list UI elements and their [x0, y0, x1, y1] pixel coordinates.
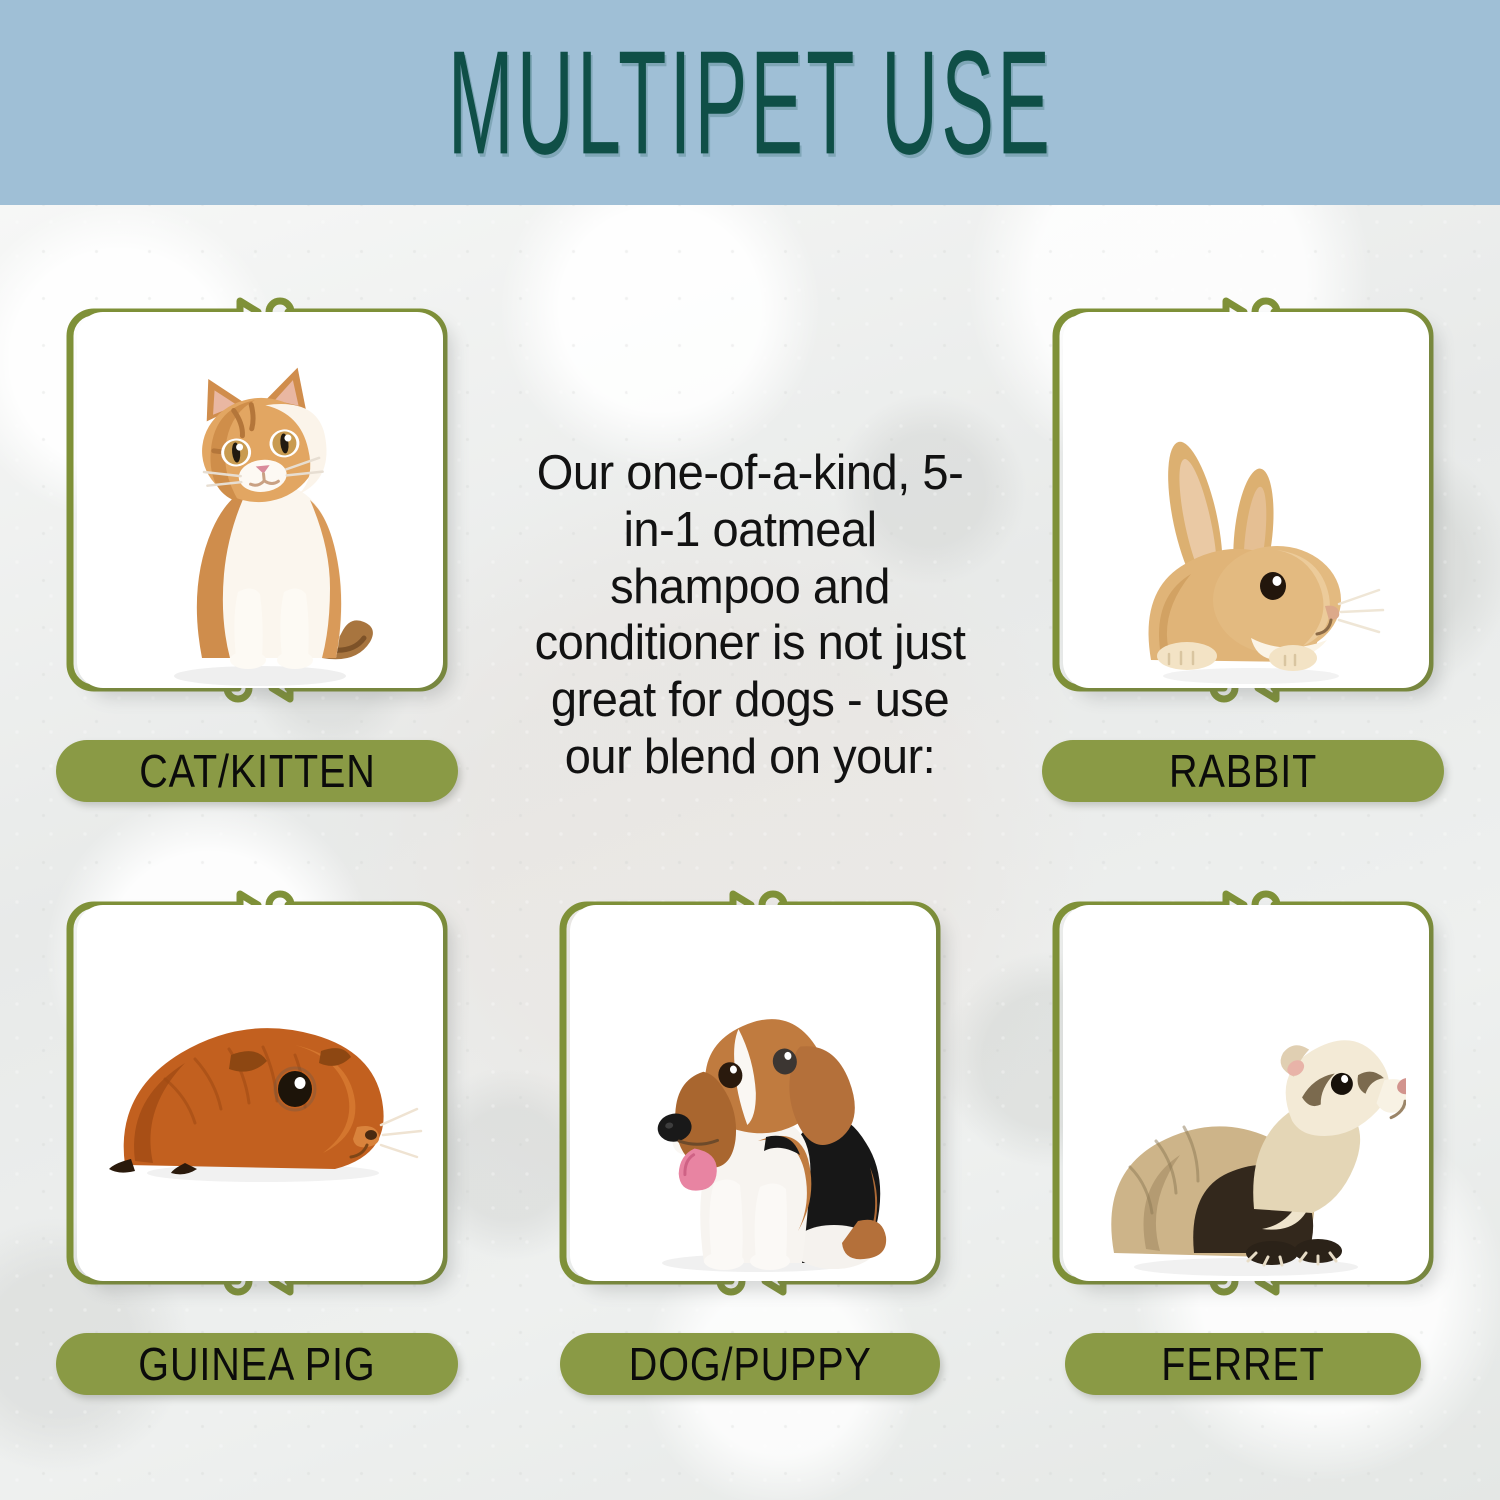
pet-card-cat-kitten[interactable]: CAT/KITTEN	[42, 280, 472, 720]
card-frame	[535, 873, 965, 1313]
pet-photo-card	[77, 905, 443, 1281]
pet-photo-card	[1063, 312, 1429, 688]
ferret-icon	[1086, 981, 1406, 1281]
pet-label-pill: GUINEA PIG	[56, 1333, 458, 1395]
product-description: Our one-of-a-kind, 5-in-1 oatmeal shampo…	[529, 445, 971, 786]
cat-icon	[110, 358, 410, 688]
header-banner: MULTIPET USE	[0, 0, 1500, 205]
pet-label-text: CAT/KITTEN	[139, 748, 375, 794]
card-frame	[42, 280, 472, 720]
multipet-use-infographic: MULTIPET USE	[0, 0, 1500, 1500]
pet-label-text: GUINEA PIG	[138, 1341, 375, 1387]
pet-label-text: FERRET	[1161, 1341, 1324, 1387]
rabbit-icon	[1101, 388, 1391, 688]
pet-card-rabbit[interactable]: RABBIT	[1028, 280, 1458, 720]
dog-icon	[608, 951, 898, 1281]
pet-label-pill: DOG/PUPPY	[560, 1333, 940, 1395]
pet-label-text: DOG/PUPPY	[629, 1341, 872, 1387]
pet-card-grid: CAT/KITTEN	[0, 205, 1500, 1500]
card-frame	[42, 873, 472, 1313]
pet-label-pill: CAT/KITTEN	[56, 740, 458, 802]
pet-label-pill: RABBIT	[1042, 740, 1444, 802]
pet-label-text: RABBIT	[1169, 748, 1317, 794]
pet-photo-card	[1063, 905, 1429, 1281]
card-frame	[1028, 873, 1458, 1313]
pet-label-pill: FERRET	[1065, 1333, 1421, 1395]
page-title: MULTIPET USE	[447, 29, 1052, 177]
pet-photo-card	[570, 905, 936, 1281]
guinea-pig-icon	[95, 959, 425, 1199]
pet-card-ferret[interactable]: FERRET	[1028, 873, 1458, 1313]
pet-card-dog-puppy[interactable]: DOG/PUPPY	[535, 873, 965, 1313]
pet-card-guinea-pig[interactable]: GUINEA PIG	[42, 873, 472, 1313]
pet-photo-card	[77, 312, 443, 688]
card-frame	[1028, 280, 1458, 720]
